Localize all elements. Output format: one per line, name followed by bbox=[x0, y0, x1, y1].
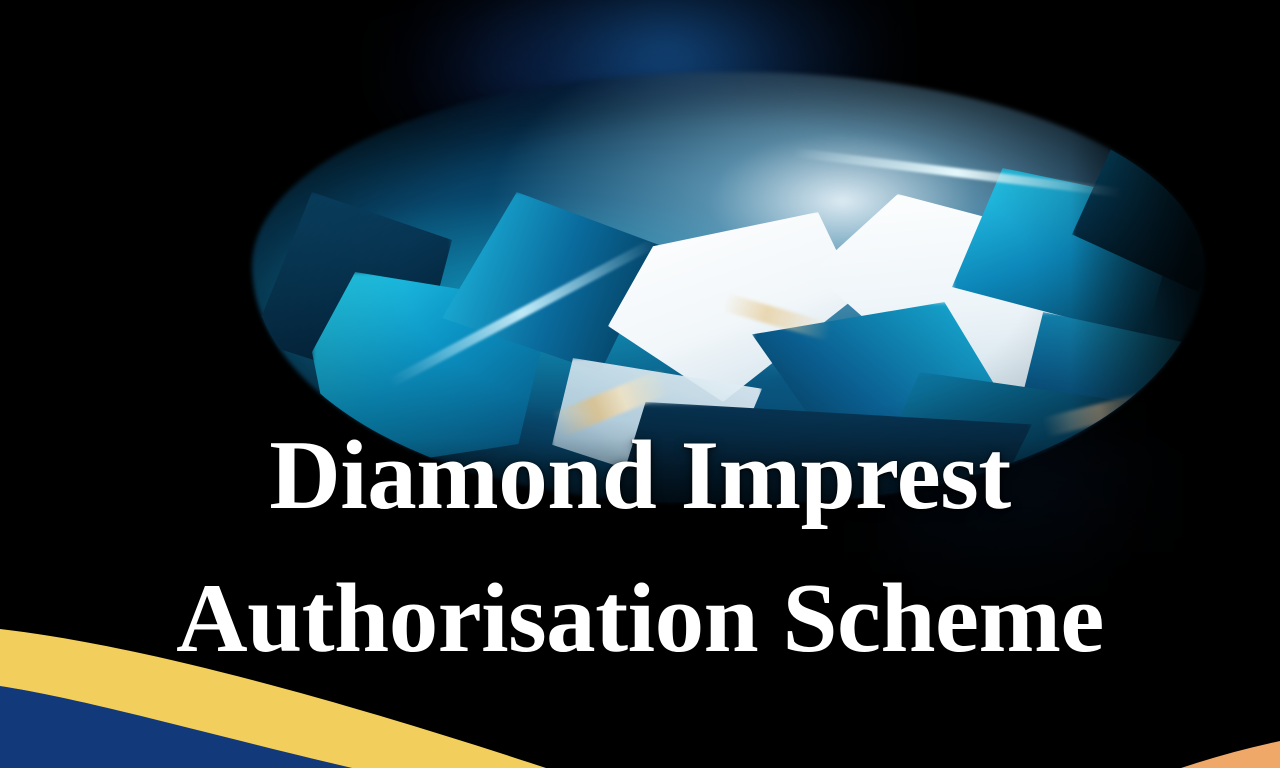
banner-title-line-2: Authorisation Scheme bbox=[0, 547, 1280, 690]
banner-title: Diamond Imprest Authorisation Scheme bbox=[0, 404, 1280, 690]
banner-title-line-1: Diamond Imprest bbox=[0, 404, 1280, 547]
diamond-imprest-banner: Diamond Imprest Authorisation Scheme bbox=[0, 0, 1280, 768]
